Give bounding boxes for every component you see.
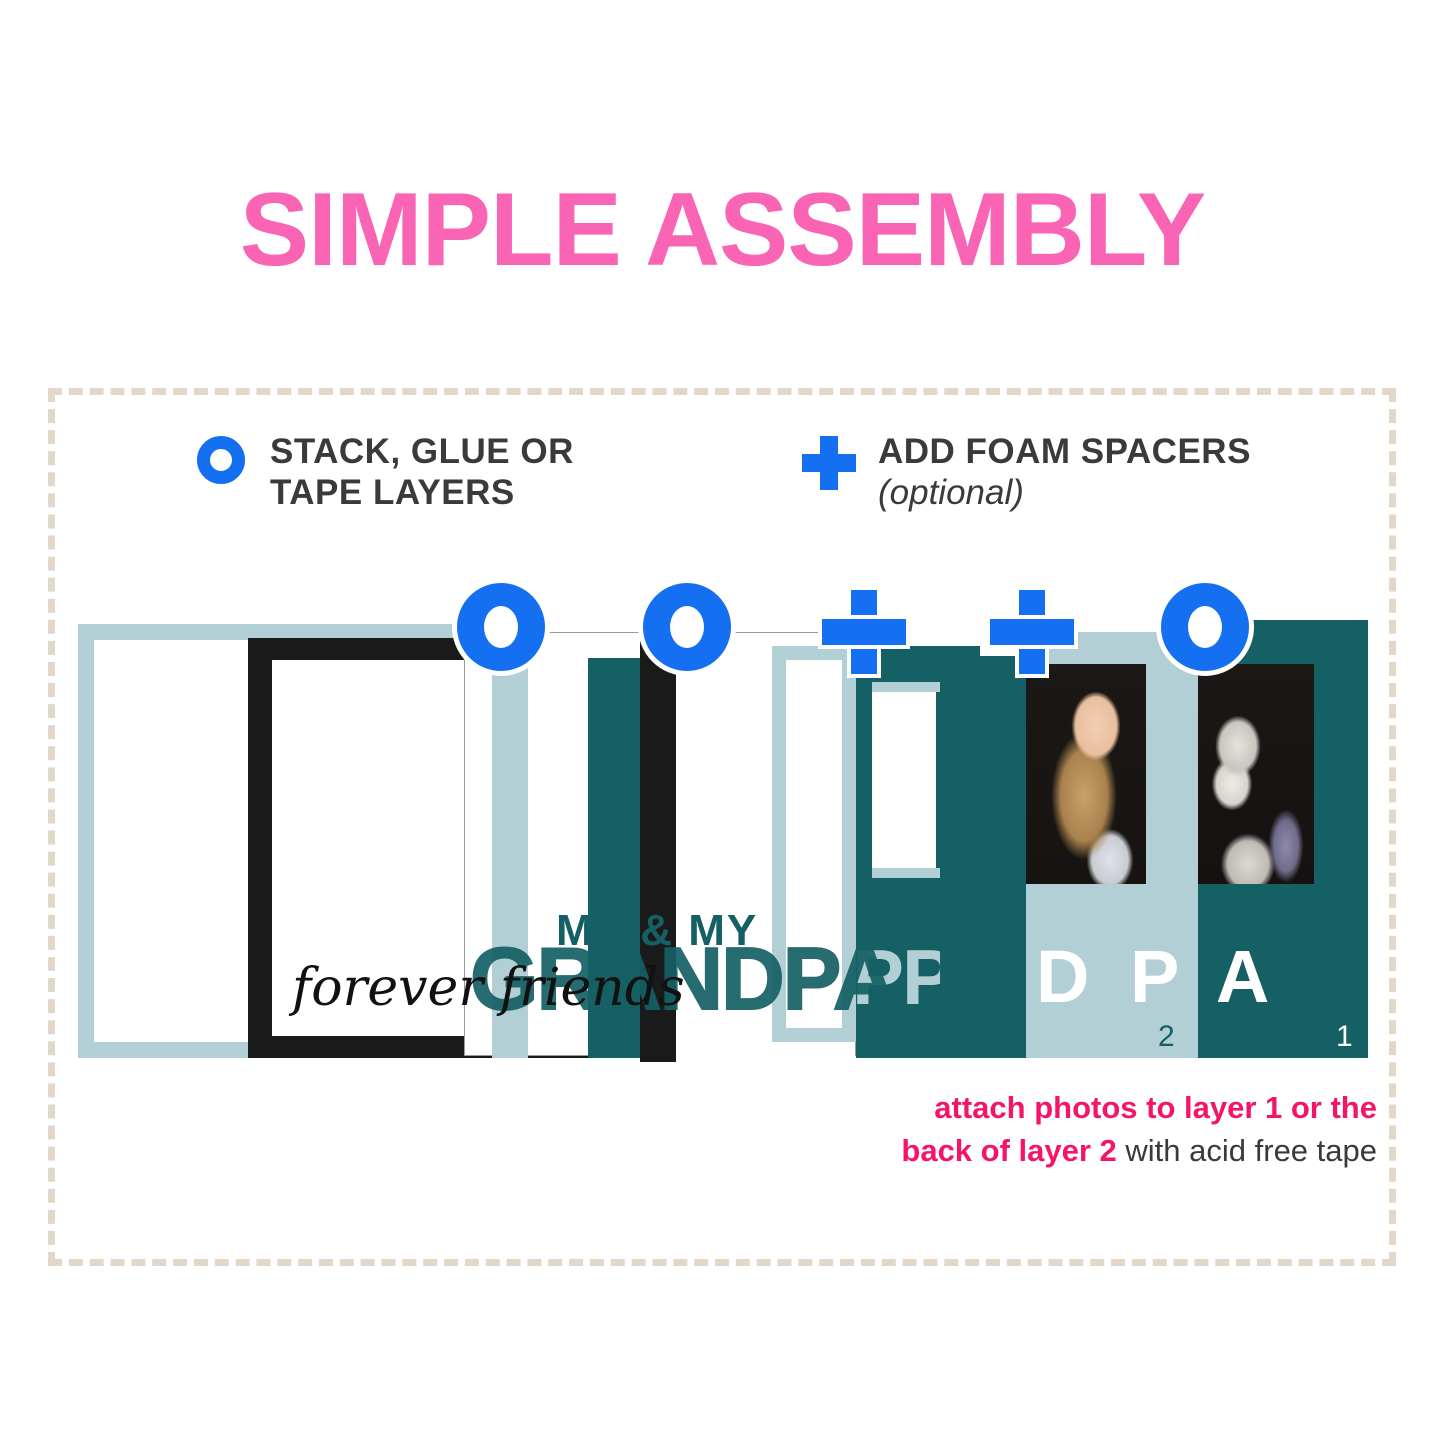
photo-grandpa-lavender (1198, 664, 1314, 884)
plus-core (1019, 619, 1045, 645)
ring-hole (670, 606, 704, 648)
bottom-note-line1: attach photos to layer 1 or the (934, 1090, 1377, 1125)
bottom-note-line2-rest: with acid free tape (1117, 1133, 1377, 1168)
plus-core (851, 619, 877, 645)
bottom-note: attach photos to layer 1 or the back of … (677, 1086, 1377, 1173)
bottom-note-line2-highlight: back of layer 2 (901, 1133, 1116, 1168)
artwork-ppa-cutout-2: D P A (1036, 934, 1279, 1019)
layer-number-1: 1 (1336, 1020, 1353, 1054)
layer-stack-diagram: forever friends ME & MY GRANDPA PPA D P … (0, 0, 1445, 1445)
plus-icon (818, 586, 910, 678)
layer-2b-white-window (872, 692, 936, 874)
marker-ring-3[interactable] (1156, 578, 1254, 676)
ring-icon (638, 578, 736, 676)
ring-hole (1188, 606, 1222, 648)
layer-2-teal-column (940, 656, 1028, 1058)
photo-girl-smiling (1026, 664, 1146, 884)
marker-plus-2[interactable] (986, 586, 1078, 678)
assembly-instruction-page: SIMPLE ASSEMBLY STACK, GLUE OR TAPE LAYE… (0, 0, 1445, 1445)
marker-ring-2[interactable] (638, 578, 736, 676)
ring-hole (484, 606, 518, 648)
artwork-script-forever-friends: forever friends (292, 958, 685, 1018)
marker-plus-1[interactable] (818, 586, 910, 678)
artwork-title-small: ME & MY (556, 906, 758, 956)
ring-icon (1156, 578, 1254, 676)
ring-icon (452, 578, 550, 676)
marker-ring-1[interactable] (452, 578, 550, 676)
plus-icon (986, 586, 1078, 678)
layer-number-2: 2 (1158, 1020, 1175, 1054)
